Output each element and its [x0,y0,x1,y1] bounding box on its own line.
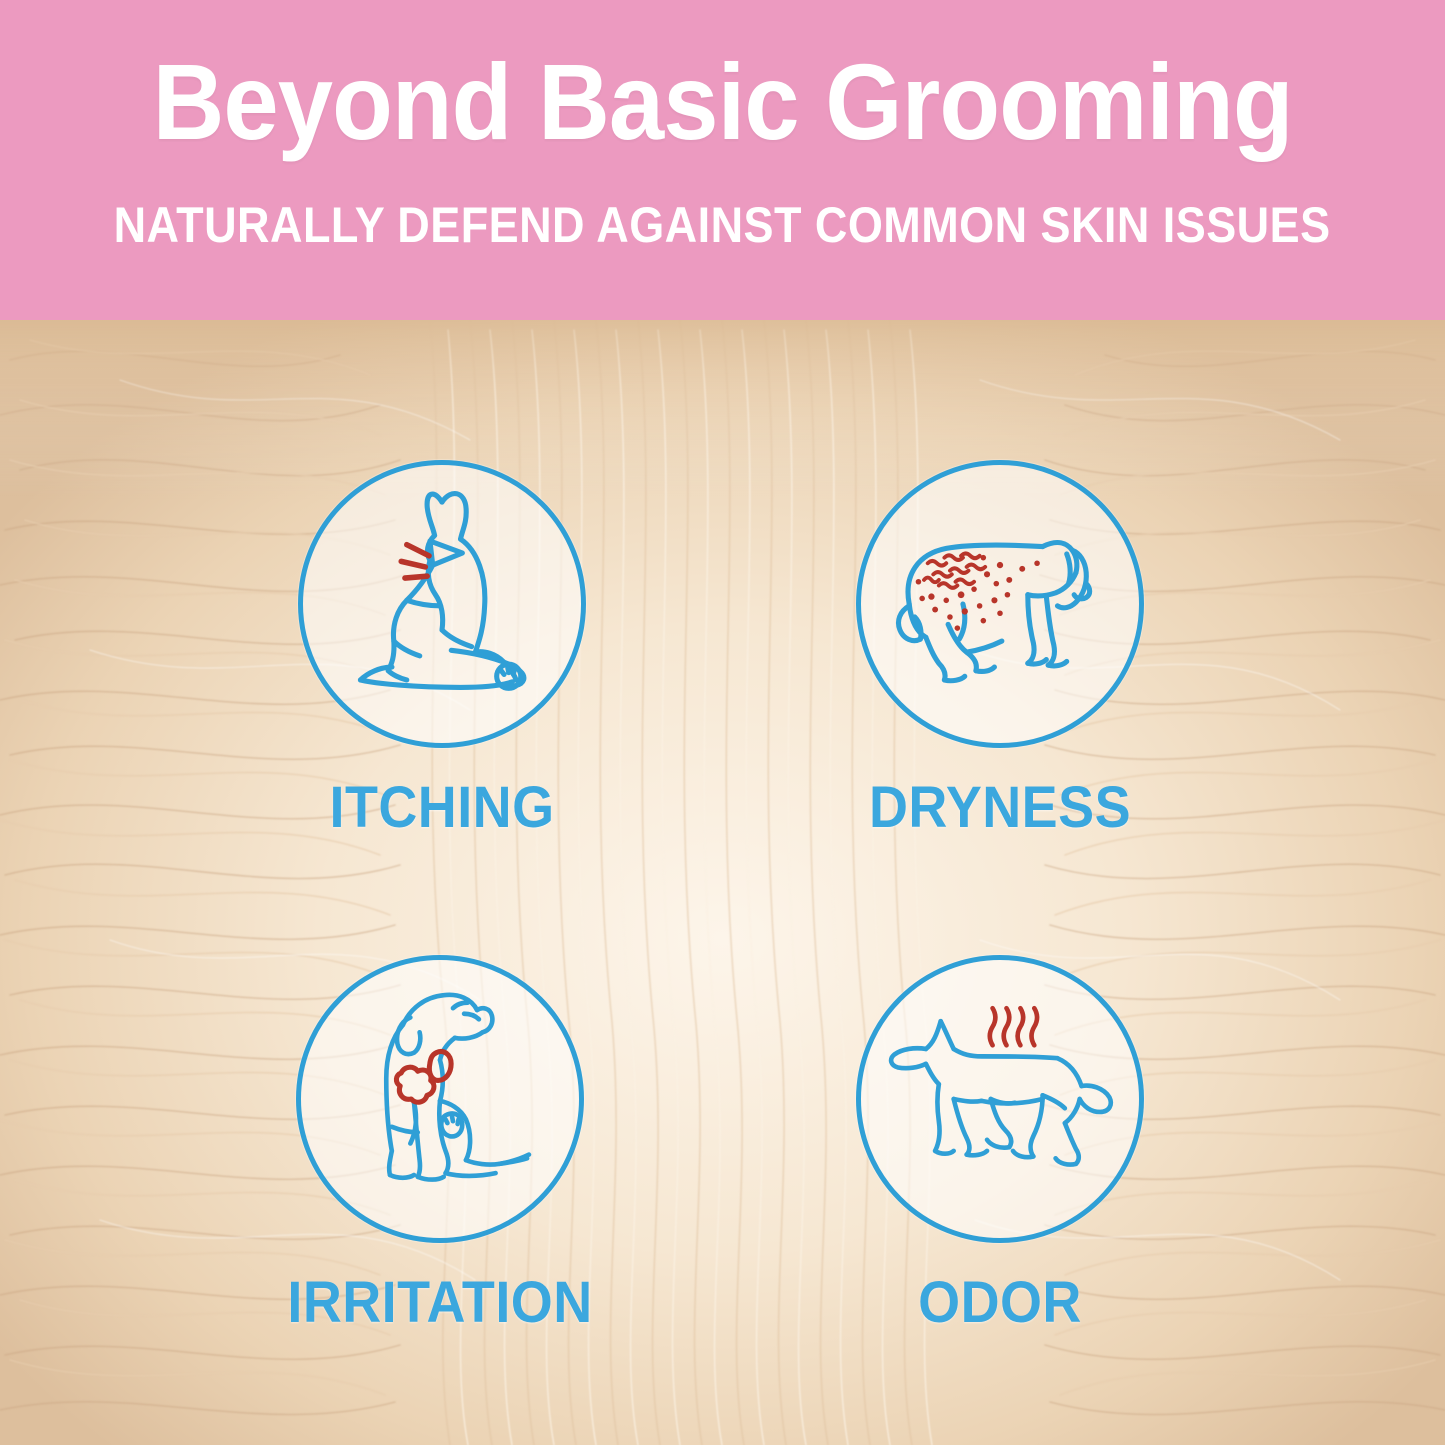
header-band: Beyond Basic Grooming NATURALLY DEFEND A… [0,0,1445,320]
dog-dry-flakes-icon [861,465,1139,743]
benefit-icon-circle [856,955,1144,1243]
poster: Beyond Basic Grooming NATURALLY DEFEND A… [0,0,1445,1445]
benefit-label: DRYNESS [805,774,1196,841]
benefit-item-irritation[interactable]: IRRITATION [230,955,650,1336]
benefit-label: ODOR [805,1269,1196,1336]
benefit-item-odor[interactable]: ODOR [790,955,1210,1336]
dog-scratching-icon [303,465,581,743]
benefit-icon-circle [856,460,1144,748]
page-subtitle: NATURALLY DEFEND AGAINST COMMON SKIN ISS… [114,196,1331,254]
benefit-item-dryness[interactable]: DRYNESS [790,460,1210,841]
dog-odor-waves-icon [861,960,1139,1238]
benefit-icon-circle [298,460,586,748]
dog-irritated-skin-icon [301,960,579,1238]
benefit-label: ITCHING [247,774,638,841]
page-title: Beyond Basic Grooming [152,48,1292,156]
benefit-icon-circle [296,955,584,1243]
benefit-item-itching[interactable]: ITCHING [232,460,652,841]
benefits-grid: ITCHING [0,320,1445,1445]
benefit-label: IRRITATION [245,1269,636,1336]
